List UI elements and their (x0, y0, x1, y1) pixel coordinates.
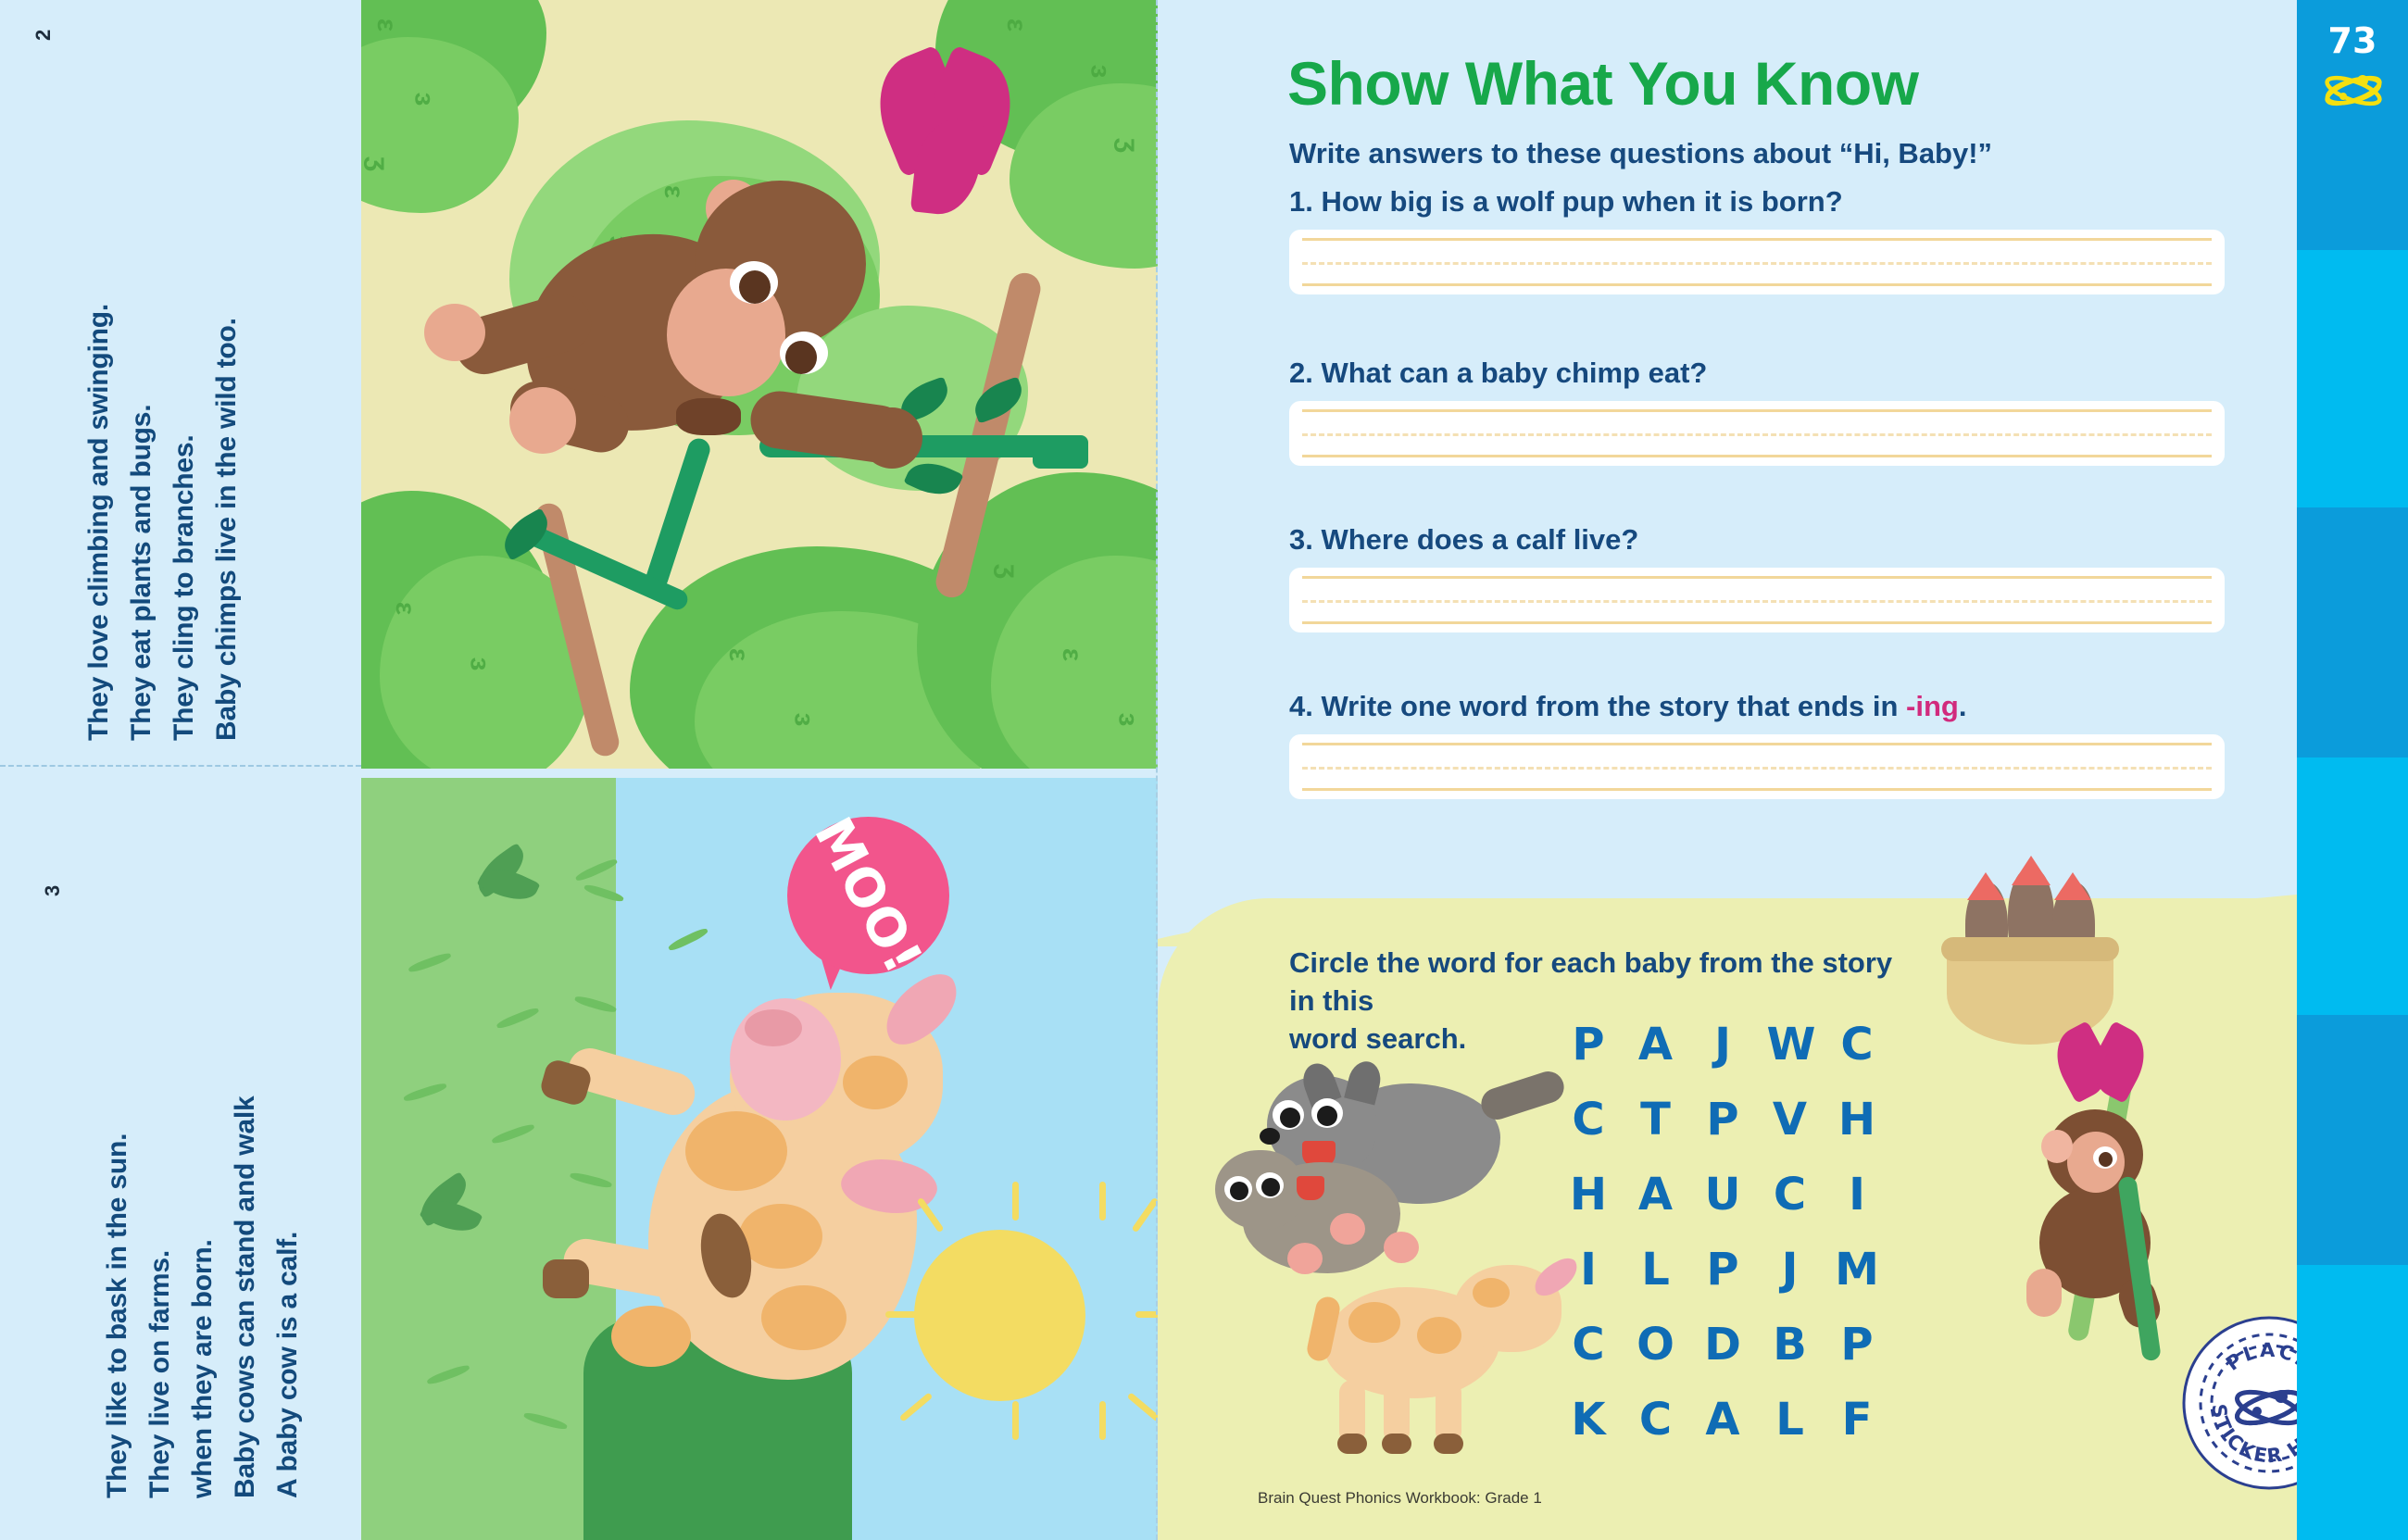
grid-letter[interactable]: C (1834, 1019, 1880, 1070)
handwriting-guide-line (1302, 767, 2212, 770)
moo-speech-bubble: MOO! (787, 817, 949, 974)
story-line: Baby cows can stand and walk (224, 1096, 267, 1498)
page-tab-stripe-bar: 73 (2297, 0, 2408, 1540)
story-line: They eat plants and bugs. (120, 405, 163, 741)
booklet-page-number-2: 2 (31, 30, 56, 41)
story-line: They live on farms. (139, 1250, 182, 1498)
word-search-grid[interactable]: P A J W C C T P V H H A U C I I (1565, 1019, 1880, 1469)
question-block-4: 4. Write one word from the story that en… (1289, 690, 2225, 799)
brain-quest-atom-logo-icon (2321, 61, 2386, 117)
question-number: 3. (1289, 523, 1313, 556)
grid-letter[interactable]: M (1834, 1244, 1880, 1296)
grid-letter[interactable]: U (1699, 1169, 1746, 1221)
instruction-line-1: Circle the word for each baby from the s… (1289, 945, 1900, 1020)
grid-letter[interactable]: J (1699, 1019, 1746, 1070)
answer-field-2[interactable] (1289, 401, 2225, 466)
grid-letter[interactable]: K (1565, 1394, 1612, 1446)
question-label-2: 2. What can a baby chimp eat? (1289, 357, 2225, 390)
grid-letter[interactable]: T (1633, 1094, 1679, 1146)
story-text-period: . (272, 1232, 303, 1239)
grid-letter[interactable]: P (1699, 1094, 1746, 1146)
grid-letter[interactable]: I (1834, 1169, 1880, 1221)
handwriting-guide-line (1302, 433, 2212, 436)
word-search-row: C T P V H (1565, 1094, 1880, 1146)
handwriting-guide-line (1302, 600, 2212, 603)
question-number: 4. (1289, 690, 1313, 722)
question-text: What can a baby chimp eat? (1321, 357, 1707, 389)
question-number: 2. (1289, 357, 1313, 389)
grid-letter[interactable]: F (1834, 1394, 1880, 1446)
grid-letter[interactable]: A (1633, 1169, 1679, 1221)
sun-icon (914, 1230, 1085, 1401)
moo-label: MOO! (802, 808, 934, 983)
grid-letter[interactable]: B (1767, 1319, 1813, 1371)
question-text: Write one word from the story that ends … (1321, 690, 1906, 722)
question-label-4: 4. Write one word from the story that en… (1289, 690, 2225, 723)
question-highlight-suffix: -ing (1906, 690, 1959, 722)
handwriting-guide-line (1302, 262, 2212, 265)
story-line: Baby chimps live in the wild too. (206, 318, 248, 741)
story-line: A baby cow is a calf. (267, 1232, 309, 1498)
question-block-3: 3. Where does a calf live? (1289, 523, 2225, 632)
grid-letter[interactable]: J (1767, 1244, 1813, 1296)
word-search-row: C O D B P (1565, 1319, 1880, 1371)
booklet-page-3: A baby cow is a calf. Baby cows can stan… (0, 767, 361, 1540)
grid-letter[interactable]: C (1767, 1169, 1813, 1221)
story-line: when they are born. (182, 1239, 224, 1498)
grid-letter[interactable]: O (1633, 1319, 1679, 1371)
booklet-page-2: 2 Baby chimps live in the wild too. They… (0, 0, 361, 767)
grid-letter[interactable]: C (1565, 1094, 1612, 1146)
booklet-page-number-3: 3 (41, 885, 65, 896)
word-search-row: K C A L F (1565, 1394, 1880, 1446)
question-text: How big is a wolf pup when it is born? (1321, 185, 1842, 218)
grid-letter[interactable]: L (1633, 1244, 1679, 1296)
jungle-illustration: ε ɜ ʒ ε ɜ ʒ ε ɜ ε ɜ ε ɜ ʒ ε ɜ (361, 0, 1158, 769)
grid-letter[interactable]: C (1565, 1319, 1612, 1371)
answer-field-4[interactable] (1289, 734, 2225, 799)
grid-letter[interactable]: P (1834, 1319, 1880, 1371)
grid-letter[interactable]: A (1699, 1394, 1746, 1446)
word-search-row: I L P J M (1565, 1244, 1880, 1296)
word-search-row: H A U C I (1565, 1169, 1880, 1221)
answer-field-1[interactable] (1289, 230, 2225, 294)
word-search-row: P A J W C (1565, 1019, 1880, 1070)
question-label-1: 1. How big is a wolf pup when it is born… (1289, 185, 2225, 219)
grid-letter[interactable]: P (1699, 1244, 1746, 1296)
grid-letter[interactable]: L (1767, 1394, 1813, 1446)
grid-letter[interactable]: C (1633, 1394, 1679, 1446)
story-line: They love climbing and swinging. (78, 304, 120, 741)
grid-letter[interactable]: H (1565, 1169, 1612, 1221)
question-label-3: 3. Where does a calf live? (1289, 523, 2225, 557)
question-block-2: 2. What can a baby chimp eat? (1289, 357, 2225, 466)
story-line: They like to bask in the sun. (96, 1133, 139, 1498)
tab-page-number: 73 (2297, 20, 2408, 61)
story-text-segment: A baby cow is a (272, 1286, 303, 1498)
question-text-tail: . (1959, 690, 1967, 722)
question-text: Where does a calf live? (1321, 523, 1638, 556)
grid-letter[interactable]: W (1767, 1019, 1813, 1070)
grid-letter[interactable]: I (1565, 1244, 1612, 1296)
page-subtitle: Write answers to these questions about “… (1289, 137, 1992, 170)
bold-vocab-word: calf (272, 1239, 303, 1286)
grid-letter[interactable]: H (1834, 1094, 1880, 1146)
question-number: 1. (1289, 185, 1313, 218)
grid-letter[interactable]: A (1633, 1019, 1679, 1070)
illustration-column: ε ɜ ʒ ε ɜ ʒ ε ɜ ε ɜ ε ɜ ʒ ε ɜ (361, 0, 1158, 1540)
grid-letter[interactable]: P (1565, 1019, 1612, 1070)
grid-letter[interactable]: V (1767, 1094, 1813, 1146)
farm-illustration: MOO! (361, 778, 1158, 1540)
footer-credit: Brain Quest Phonics Workbook: Grade 1 (1258, 1489, 1542, 1508)
page-title: Show What You Know (1287, 48, 1919, 119)
story-line: They cling to branches. (163, 435, 206, 741)
grid-letter[interactable]: D (1699, 1319, 1746, 1371)
answer-field-3[interactable] (1289, 568, 2225, 632)
worksheet-page: Show What You Know Write answers to thes… (1158, 0, 2297, 1540)
question-block-1: 1. How big is a wolf pup when it is born… (1289, 185, 2225, 294)
